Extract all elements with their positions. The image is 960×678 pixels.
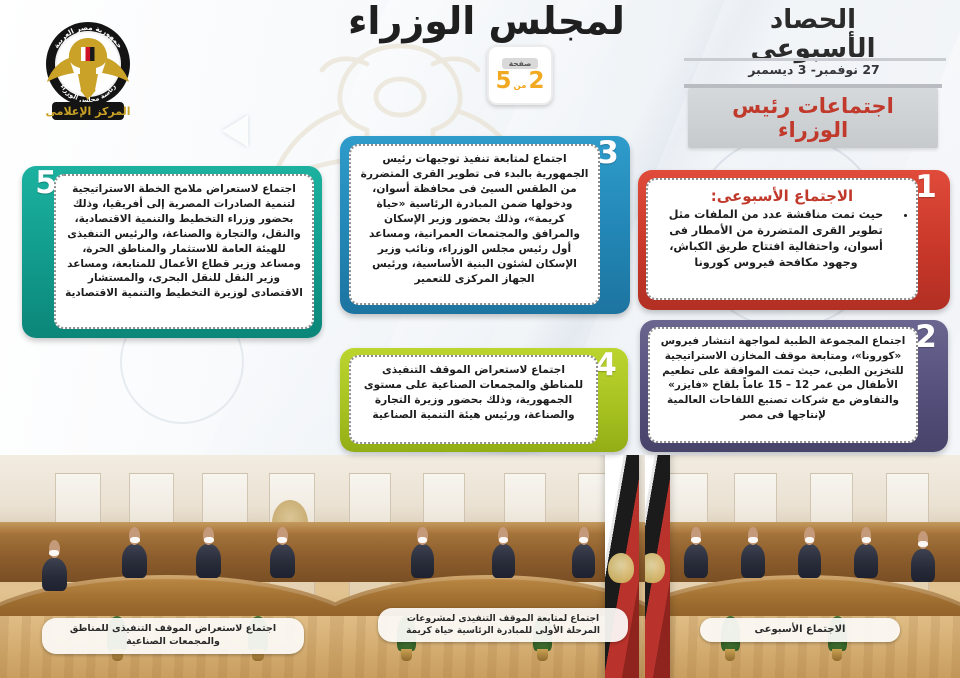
card-1-text-list: حيث تمت مناقشة عدد من الملفات مثل تطوير … <box>654 207 910 271</box>
photo-caption-left: اجتماع لاستعراض الموقف التنفيذى للمناطق … <box>42 618 304 654</box>
main-title: لمجلس الوزراء <box>348 2 678 42</box>
header-title-block: الحصاد الأسبوعى <box>688 6 938 64</box>
photo-hayah-karima-meeting <box>335 455 645 678</box>
cabinet-media-center-logo: جمهورية مصر العربية رئاسة مجلس الوزراء ا… <box>36 14 140 126</box>
svg-text:المركز الإعلامى: المركز الإعلامى <box>46 105 131 118</box>
section-title: اجتماعات رئيس الوزراء <box>688 88 938 148</box>
header-title-line1: الحصاد <box>688 6 938 35</box>
header-date-range: 27 نوفمبر- 3 ديسمبر <box>694 62 934 77</box>
page-badge-label: صفحة <box>502 58 539 69</box>
section-title-line1: اجتماعات رئيس <box>732 94 894 118</box>
page-indicator-badge: صفحة 2 من 5 <box>487 45 553 105</box>
card-1-weekly-meeting[interactable]: 1 الاجتماع الأسبوعى: حيث تمت مناقشة عدد … <box>638 170 950 310</box>
photo-caption-middle: اجتماع لمتابعة الموقف التنفيذى لمشروعات … <box>378 608 628 642</box>
card-4-industrial-zones-meeting[interactable]: 4 اجتماع لاستعراض الموقف التنفيذى للمناط… <box>340 348 628 452</box>
page-badge-of: من <box>514 81 527 91</box>
card-1-text: حيث تمت مناقشة عدد من الملفات مثل تطوير … <box>658 207 894 271</box>
card-5-body: اجتماع لاستعراض ملامح الخطة الاستراتيجية… <box>54 174 314 329</box>
card-3-presidential-directives-meeting[interactable]: 3 اجتماع لمتابعة تنفيذ توجيهات رئيس الجم… <box>340 136 630 314</box>
section-title-line2: الوزراء <box>778 118 848 142</box>
page-badge-numbers: 2 من 5 <box>496 70 545 93</box>
card-3-text: اجتماع لمتابعة تنفيذ توجيهات رئيس الجمهو… <box>359 152 590 287</box>
card-2-text: اجتماع المجموعة الطبية لمواجهة انتشار في… <box>657 334 909 423</box>
card-4-text: اجتماع لاستعراض الموقف التنفيذى للمناطق … <box>359 363 588 423</box>
card-2-body: اجتماع المجموعة الطبية لمواجهة انتشار في… <box>648 327 918 443</box>
page-badge-current: 2 <box>528 70 544 93</box>
infographic-page: اجتماع لاستعراض الموقف التنفيذى للمناطق … <box>0 0 960 678</box>
page-badge-total: 5 <box>496 70 512 93</box>
card-4-body: اجتماع لاستعراض الموقف التنفيذى للمناطق … <box>349 355 598 444</box>
card-5-text: اجتماع لاستعراض ملامح الخطة الاستراتيجية… <box>64 182 304 301</box>
header-divider <box>684 58 946 61</box>
photo-caption-right: الاجتماع الأسبوعى <box>700 618 900 642</box>
section-header-bar: اجتماعات رئيس الوزراء <box>688 88 938 148</box>
card-1-body: الاجتماع الأسبوعى: حيث تمت مناقشة عدد من… <box>646 178 918 300</box>
card-2-medical-group-meeting[interactable]: 2 اجتماع المجموعة الطبية لمواجهة انتشار … <box>640 320 948 452</box>
play-triangle-icon <box>222 115 248 147</box>
card-5-export-strategy-meeting[interactable]: 5 اجتماع لاستعراض ملامح الخطة الاستراتيج… <box>22 166 322 338</box>
photo-weekly-meeting <box>645 455 960 678</box>
card-3-body: اجتماع لمتابعة تنفيذ توجيهات رئيس الجمهو… <box>349 144 600 305</box>
card-1-title: الاجتماع الأسبوعى: <box>654 187 910 205</box>
